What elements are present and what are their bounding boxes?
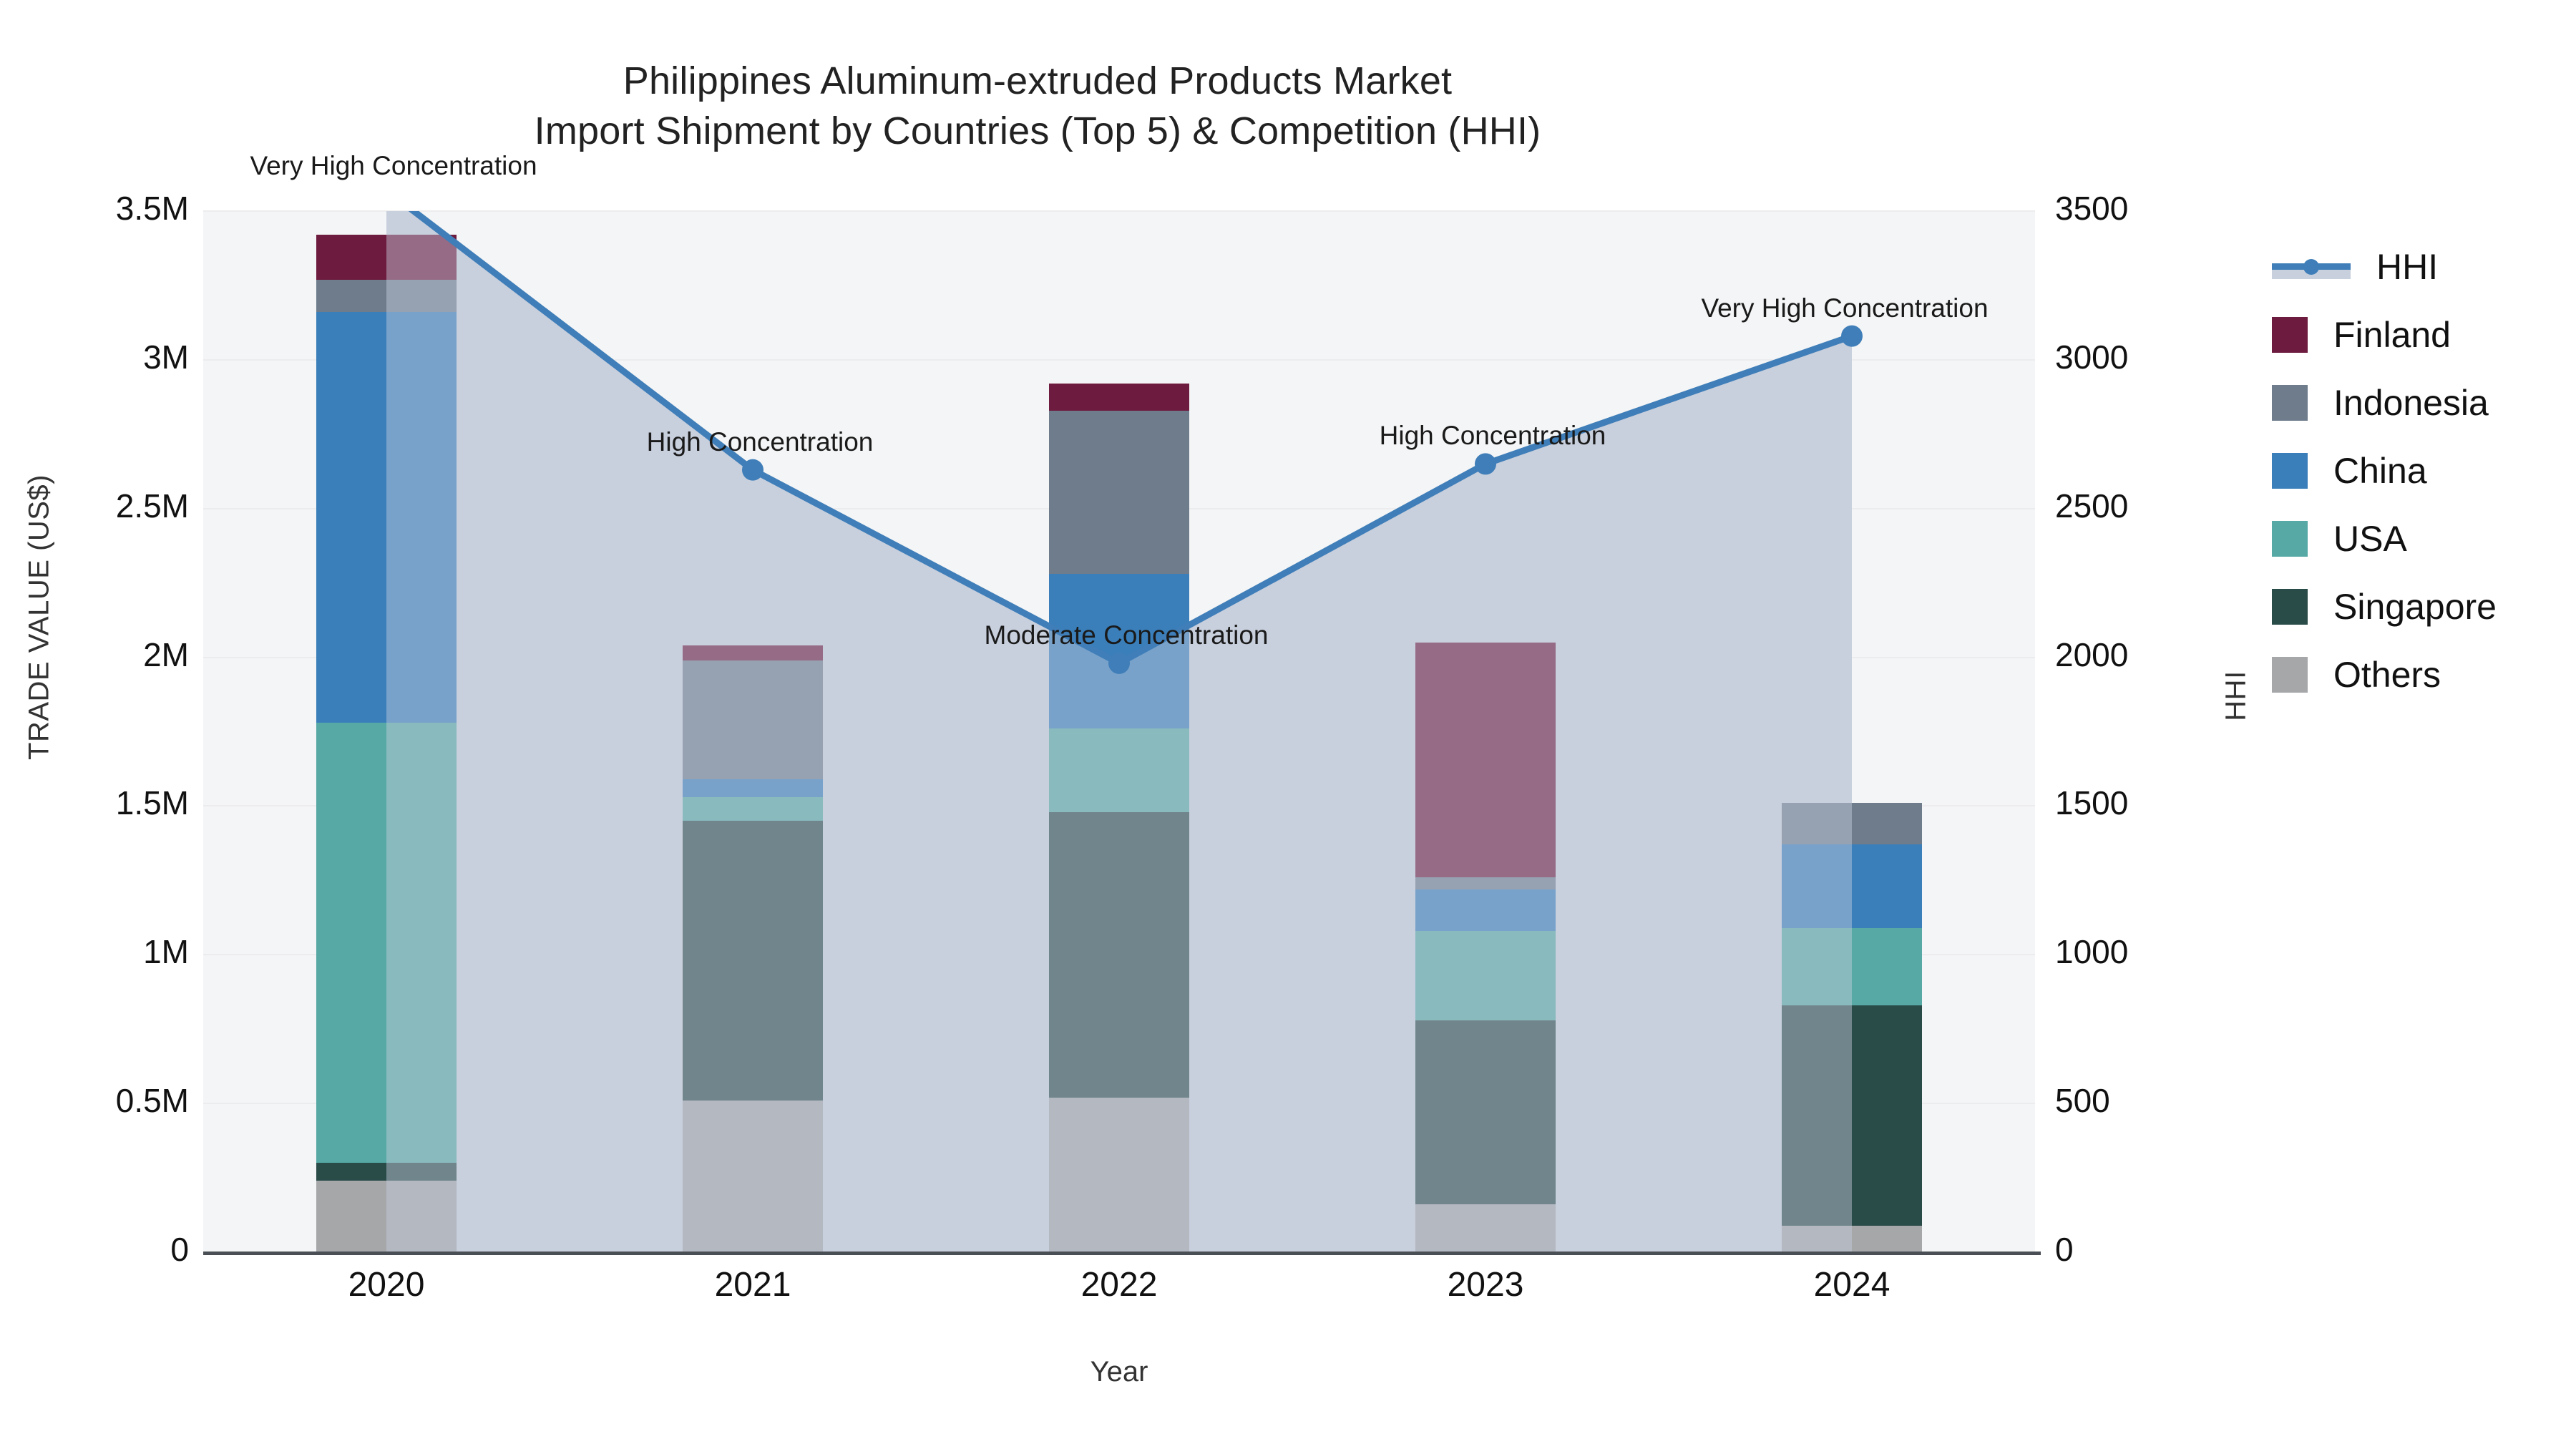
- y-axis-right-title: HHI: [2220, 625, 2253, 768]
- y-tick-right-2500: 2500: [2055, 487, 2128, 525]
- legend-item-singapore[interactable]: Singapore: [2272, 572, 2497, 640]
- x-tick-2020: 2020: [279, 1265, 494, 1304]
- y-tick-left-1M: 1M: [143, 932, 189, 971]
- y-tick-right-0: 0: [2055, 1230, 2074, 1269]
- x-axis-title: Year: [203, 1356, 2035, 1388]
- legend-item-usa[interactable]: USA: [2272, 504, 2497, 572]
- legend-swatch-icon: [2272, 657, 2308, 693]
- legend-swatch-icon: [2272, 317, 2308, 353]
- legend-swatch-icon: [2272, 453, 2308, 489]
- x-axis-line: [203, 1252, 2041, 1255]
- y-tick-left-3M: 3M: [143, 338, 189, 376]
- x-tick-2021: 2021: [645, 1265, 860, 1304]
- chart-title: Philippines Aluminum-extruded Products M…: [0, 56, 2075, 156]
- y-tick-left-2.5M: 2.5M: [116, 487, 189, 525]
- hhi-marker-2024[interactable]: [1841, 326, 1863, 347]
- y-tick-right-500: 500: [2055, 1081, 2110, 1120]
- legend-label: HHI: [2376, 246, 2438, 288]
- legend-item-others[interactable]: Others: [2272, 640, 2497, 708]
- legend-label: Finland: [2333, 314, 2451, 356]
- legend-label: Indonesia: [2333, 382, 2489, 424]
- y-tick-left-0.5M: 0.5M: [116, 1081, 189, 1120]
- legend-line-icon: [2272, 249, 2351, 285]
- annotation-2021: High Concentration: [647, 427, 874, 457]
- chart-title-line-2: Import Shipment by Countries (Top 5) & C…: [0, 106, 2075, 156]
- hhi-line-overlay: [203, 211, 2035, 1252]
- legend: HHIFinlandIndonesiaChinaUSASingaporeOthe…: [2272, 233, 2497, 708]
- y-tick-right-1500: 1500: [2055, 784, 2128, 822]
- legend-label: China: [2333, 450, 2427, 492]
- legend-swatch-icon: [2272, 385, 2308, 421]
- chart-canvas: Philippines Aluminum-extruded Products M…: [0, 0, 2576, 1449]
- hhi-marker-2022[interactable]: [1108, 653, 1130, 674]
- legend-label: Singapore: [2333, 586, 2497, 628]
- x-tick-2024: 2024: [1745, 1265, 1959, 1304]
- y-tick-left-0: 0: [170, 1230, 189, 1269]
- x-tick-2022: 2022: [1012, 1265, 1226, 1304]
- y-tick-right-3500: 3500: [2055, 189, 2128, 228]
- legend-label: Others: [2333, 654, 2441, 696]
- legend-label: USA: [2333, 518, 2407, 560]
- y-tick-right-3000: 3000: [2055, 338, 2128, 376]
- y-tick-right-1000: 1000: [2055, 932, 2128, 971]
- y-axis-left-title: TRADE VALUE (US$): [24, 431, 56, 804]
- annotation-2024: Very High Concentration: [1701, 293, 1988, 323]
- y-tick-left-1.5M: 1.5M: [116, 784, 189, 822]
- annotation-2023: High Concentration: [1380, 421, 1606, 451]
- y-tick-right-2000: 2000: [2055, 635, 2128, 674]
- legend-item-finland[interactable]: Finland: [2272, 301, 2497, 369]
- legend-item-hhi[interactable]: HHI: [2272, 233, 2497, 301]
- annotation-2020: Very High Concentration: [250, 151, 537, 181]
- x-tick-2023: 2023: [1378, 1265, 1593, 1304]
- legend-item-indonesia[interactable]: Indonesia: [2272, 369, 2497, 436]
- legend-swatch-icon: [2272, 521, 2308, 557]
- y-tick-left-3.5M: 3.5M: [116, 189, 189, 228]
- annotation-2022: Moderate Concentration: [985, 620, 1269, 650]
- y-tick-left-2M: 2M: [143, 635, 189, 674]
- hhi-marker-2021[interactable]: [742, 459, 763, 481]
- chart-title-line-1: Philippines Aluminum-extruded Products M…: [0, 56, 2075, 106]
- hhi-area-overlay: [386, 211, 1852, 1252]
- legend-item-china[interactable]: China: [2272, 436, 2497, 504]
- hhi-marker-2023[interactable]: [1475, 453, 1496, 474]
- legend-swatch-icon: [2272, 589, 2308, 625]
